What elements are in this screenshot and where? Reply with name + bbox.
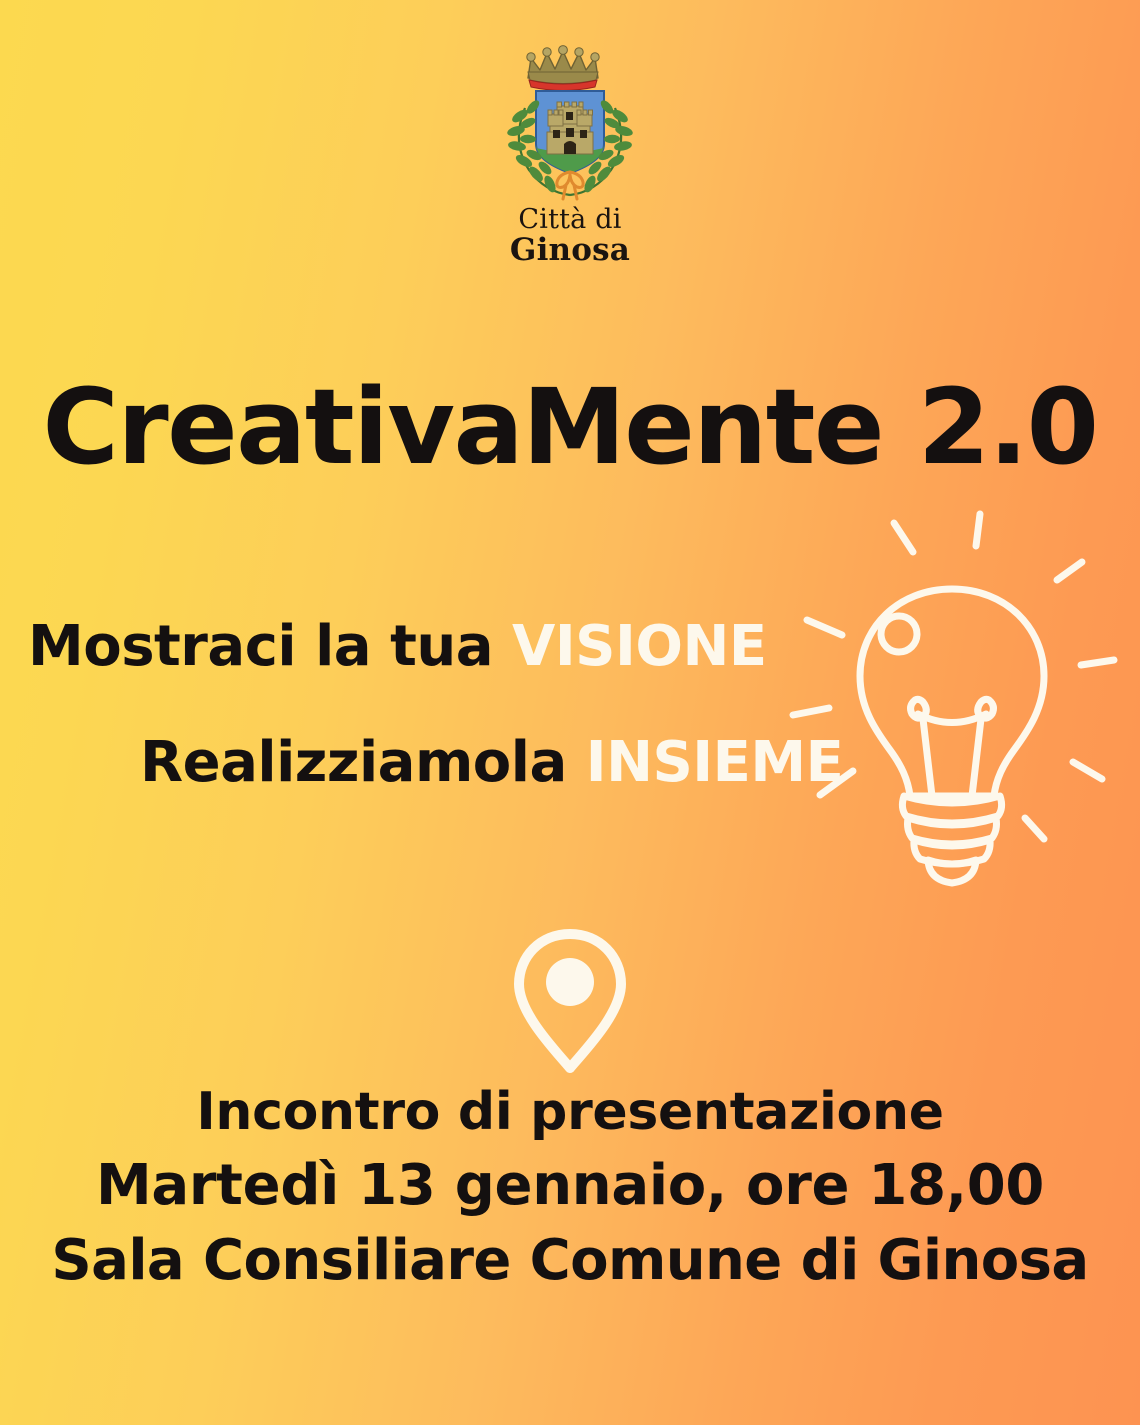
bulb-highlight-circle bbox=[881, 616, 917, 652]
shield-icon bbox=[536, 91, 604, 173]
poster-title: CreativaMente 2.0 bbox=[0, 366, 1140, 488]
crest-caption-line2: Ginosa bbox=[510, 234, 630, 266]
lightbulb-icon bbox=[782, 500, 1122, 900]
tagline-2-dark-text: Realizziamola bbox=[140, 730, 567, 795]
poster-canvas: Città di Ginosa CreativaMente 2.0 Mostra… bbox=[0, 0, 1140, 1425]
bulb-filament bbox=[911, 699, 994, 796]
event-detail-line-3: Sala Consiliare Comune di Ginosa bbox=[0, 1223, 1140, 1298]
crown-icon bbox=[527, 46, 599, 91]
municipality-crest-block: Città di Ginosa bbox=[0, 44, 1140, 266]
event-detail-line-2: Martedì 13 gennaio, ore 18,00 bbox=[0, 1148, 1140, 1223]
pin-inner-dot bbox=[546, 958, 594, 1006]
tagline-insieme: Realizziamola INSIEME bbox=[140, 730, 843, 795]
event-details: Incontro di presentazione Martedì 13 gen… bbox=[0, 1078, 1140, 1298]
tagline-1-dark-text: Mostraci la tua bbox=[28, 614, 493, 679]
event-detail-line-1: Incontro di presentazione bbox=[0, 1078, 1140, 1148]
crest-caption: Città di Ginosa bbox=[510, 206, 630, 266]
tagline-visione: Mostraci la tua VISIONE bbox=[28, 614, 767, 679]
bulb-screw-base bbox=[902, 796, 1001, 883]
coat-of-arms-icon bbox=[495, 44, 645, 204]
crest-caption-line1: Città di bbox=[510, 206, 630, 234]
bulb-rays bbox=[793, 514, 1114, 839]
tagline-1-highlight-text: VISIONE bbox=[512, 614, 767, 679]
location-pin-icon bbox=[496, 925, 644, 1075]
